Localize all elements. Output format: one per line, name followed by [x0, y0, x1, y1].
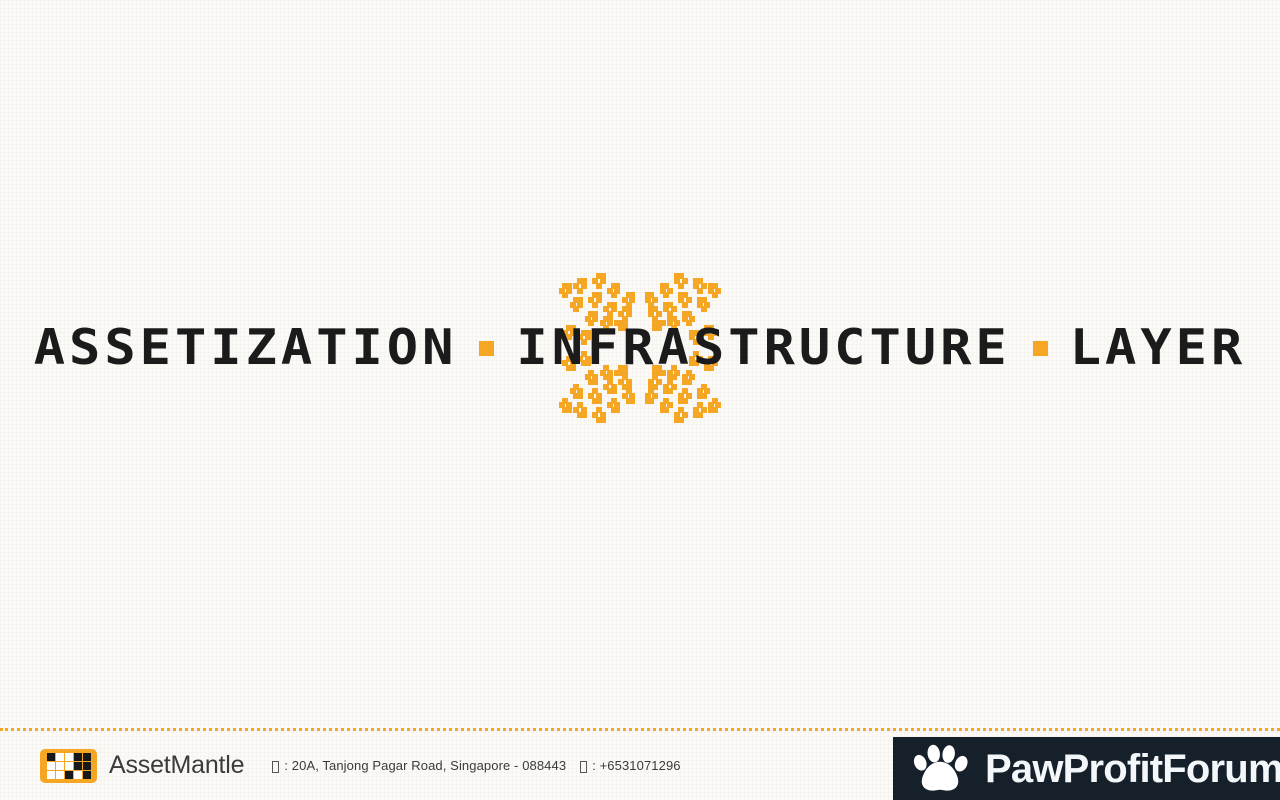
footer-contact-info: : 20A, Tanjong Pagar Road, Singapore - 0… — [272, 758, 680, 773]
burst-pixel — [674, 412, 680, 418]
logo-cell-1 — [56, 753, 64, 761]
hero-section: ASSETIZATION INFRASTRUCTURE LAYER — [0, 0, 1280, 728]
burst-pixel — [596, 273, 602, 279]
burst-pixel — [712, 292, 718, 298]
burst-pixel — [682, 412, 688, 418]
burst-pixel — [573, 407, 579, 413]
burst-pixel — [682, 278, 688, 284]
footer-address: : 20A, Tanjong Pagar Road, Singapore - 0… — [272, 758, 566, 773]
brand-name-label: AssetMantle — [109, 751, 244, 780]
burst-pixel — [626, 292, 632, 298]
burst-pixel — [592, 412, 598, 418]
burst-pixel — [648, 388, 654, 394]
burst-pixel — [626, 398, 632, 404]
burst-pixel — [618, 311, 624, 317]
burst-pixel — [656, 311, 662, 317]
burst-pixel — [663, 388, 669, 394]
burst-pixel — [674, 273, 680, 279]
burst-pixel — [592, 388, 598, 394]
burst-pixel — [596, 398, 602, 404]
burst-pixel — [629, 297, 635, 303]
burst-pixel — [701, 297, 707, 303]
burst-pixel — [622, 393, 628, 399]
burst-pixel — [678, 398, 684, 404]
burst-pixel — [678, 407, 684, 413]
burst-pixel — [618, 379, 624, 385]
burst-pixel — [667, 311, 673, 317]
burst-pixel — [708, 283, 714, 289]
logo-cell-11 — [56, 771, 64, 779]
burst-pixel — [570, 388, 576, 394]
burst-pixel — [629, 398, 635, 404]
burst-pixel — [626, 379, 632, 385]
burst-pixel — [573, 283, 579, 289]
burst-pixel — [596, 283, 602, 289]
burst-pixel — [581, 412, 587, 418]
burst-pixel — [693, 278, 699, 284]
burst-pixel — [663, 306, 669, 312]
burst-pixel — [712, 398, 718, 404]
pawprofitforum-watermark: PawProfitForum — [893, 737, 1280, 800]
burst-pixel — [708, 407, 714, 413]
burst-pixel — [600, 412, 606, 418]
burst-pixel — [648, 292, 654, 298]
burst-pixel — [600, 273, 606, 279]
burst-pixel — [614, 407, 620, 413]
burst-pixel — [559, 288, 565, 294]
burst-pixel — [701, 306, 707, 312]
burst-pixel — [674, 417, 680, 423]
burst-pixel — [614, 402, 620, 408]
burst-pixel — [607, 302, 613, 308]
burst-pixel — [562, 407, 568, 413]
burst-pixel — [573, 306, 579, 312]
burst-pixel — [697, 388, 703, 394]
burst-pixel — [611, 388, 617, 394]
burst-pixel — [671, 384, 677, 390]
burst-pixel — [682, 292, 688, 298]
burst-pixel — [577, 402, 583, 408]
burst-pixel — [577, 302, 583, 308]
burst-pixel — [559, 402, 565, 408]
burst-pixel — [566, 283, 572, 289]
burst-pixel — [678, 417, 684, 423]
burst-pixel — [611, 398, 617, 404]
burst-pixel — [708, 402, 714, 408]
burst-pixel — [577, 278, 583, 284]
burst-pixel — [588, 311, 594, 317]
burst-pixel — [622, 297, 628, 303]
burst-pixel — [607, 288, 613, 294]
burst-pixel — [614, 288, 620, 294]
burst-pixel — [592, 311, 598, 317]
burst-pixel — [592, 398, 598, 404]
burst-pixel — [577, 388, 583, 394]
location-pin-icon — [272, 761, 279, 773]
burst-pixel — [577, 297, 583, 303]
burst-pixel — [667, 288, 673, 294]
burst-pixel — [660, 288, 666, 294]
burst-pixel — [603, 384, 609, 390]
burst-pixel — [678, 283, 684, 289]
burst-pixel — [712, 283, 718, 289]
burst-pixel — [607, 388, 613, 394]
burst-pixel — [577, 288, 583, 294]
burst-pixel — [678, 273, 684, 279]
assetmantle-logo-icon[interactable] — [40, 749, 97, 783]
burst-pixel — [663, 302, 669, 308]
headline-word-layer: LAYER — [1070, 323, 1247, 372]
logo-cell-13 — [74, 771, 82, 779]
logo-cell-3 — [74, 753, 82, 761]
burst-pixel — [686, 311, 692, 317]
burst-pixel — [596, 297, 602, 303]
burst-pixel — [588, 297, 594, 303]
burst-pixel — [663, 407, 669, 413]
headline-square-bullet-1 — [479, 341, 494, 356]
burst-pixel — [678, 393, 684, 399]
burst-pixel — [697, 302, 703, 308]
logo-cell-7 — [65, 762, 73, 770]
page-stage: ASSETIZATION INFRASTRUCTURE LAYER AssetM… — [0, 0, 1280, 800]
burst-pixel — [626, 302, 632, 308]
burst-pixel — [592, 379, 598, 385]
burst-pixel — [648, 306, 654, 312]
burst-pixel — [708, 288, 714, 294]
burst-pixel — [697, 412, 703, 418]
burst-pixel — [701, 393, 707, 399]
burst-pixel — [648, 302, 654, 308]
burst-pixel — [663, 398, 669, 404]
burst-pixel — [674, 278, 680, 284]
burst-pixel — [697, 393, 703, 399]
burst-pixel — [686, 393, 692, 399]
burst-pixel — [704, 302, 710, 308]
burst-pixel — [596, 292, 602, 298]
footer-left-group: AssetMantle : 20A, Tanjong Pagar Road, S… — [40, 749, 681, 783]
burst-pixel — [596, 407, 602, 413]
burst-pixel — [648, 384, 654, 390]
phone-icon — [580, 761, 587, 773]
burst-pixel — [611, 306, 617, 312]
burst-pixel — [562, 283, 568, 289]
burst-pixel — [686, 379, 692, 385]
burst-pixel — [566, 288, 572, 294]
burst-pixel — [682, 379, 688, 385]
burst-pixel — [663, 292, 669, 298]
burst-pixel — [693, 283, 699, 289]
burst-pixel — [645, 292, 651, 298]
burst-pixel — [588, 379, 594, 385]
burst-pixel — [697, 297, 703, 303]
burst-pixel — [701, 384, 707, 390]
burst-pixel — [682, 311, 688, 317]
burst-pixel — [697, 278, 703, 284]
burst-pixel — [614, 283, 620, 289]
logo-cell-9 — [83, 762, 91, 770]
headline-word-assetization: ASSETIZATION — [34, 323, 458, 372]
logo-cell-14 — [83, 771, 91, 779]
burst-pixel — [678, 297, 684, 303]
burst-pixel — [682, 398, 688, 404]
burst-pixel — [562, 292, 568, 298]
burst-pixel — [652, 297, 658, 303]
burst-pixel — [573, 384, 579, 390]
burst-pixel — [566, 407, 572, 413]
burst-pixel — [652, 306, 658, 312]
burst-pixel — [581, 278, 587, 284]
burst-pixel — [652, 384, 658, 390]
footer-address-text: : 20A, Tanjong Pagar Road, Singapore - 0… — [284, 758, 566, 773]
burst-pixel — [577, 393, 583, 399]
burst-pixel — [652, 393, 658, 399]
burst-pixel — [693, 412, 699, 418]
burst-pixel — [629, 393, 635, 399]
burst-pixel — [622, 306, 628, 312]
burst-pixel — [663, 384, 669, 390]
burst-pixel — [592, 278, 598, 284]
burst-pixel — [660, 283, 666, 289]
footer-phone[interactable]: : +6531071296 — [580, 758, 680, 773]
burst-pixel — [611, 283, 617, 289]
burst-pixel — [663, 283, 669, 289]
burst-pixel — [678, 292, 684, 298]
burst-pixel — [607, 379, 613, 385]
headline-word-infrastructure: INFRASTRUCTURE — [516, 323, 1010, 372]
burst-pixel — [581, 407, 587, 413]
logo-cell-2 — [65, 753, 73, 761]
hero-headline: ASSETIZATION INFRASTRUCTURE LAYER — [34, 322, 1247, 374]
burst-pixel — [611, 302, 617, 308]
footer-phone-text: : +6531071296 — [592, 758, 680, 773]
burst-pixel — [607, 311, 613, 317]
burst-pixel — [566, 402, 572, 408]
burst-pixel — [645, 297, 651, 303]
burst-pixel — [682, 388, 688, 394]
burst-pixel — [577, 412, 583, 418]
burst-pixel — [622, 384, 628, 390]
watermark-label: PawProfitForum — [985, 749, 1280, 789]
burst-pixel — [697, 288, 703, 294]
burst-pixel — [667, 302, 673, 308]
burst-pixel — [611, 384, 617, 390]
headline-square-bullet-2 — [1033, 341, 1048, 356]
burst-pixel — [648, 398, 654, 404]
burst-pixel — [600, 417, 606, 423]
burst-pixel — [667, 402, 673, 408]
burst-pixel — [715, 288, 721, 294]
logo-cell-5 — [47, 762, 55, 770]
burst-pixel — [570, 302, 576, 308]
burst-pixel — [645, 398, 651, 404]
burst-pixel — [701, 283, 707, 289]
burst-pixel — [645, 393, 651, 399]
logo-pixel-grid — [47, 753, 91, 779]
burst-pixel — [671, 306, 677, 312]
brand-lockup[interactable]: AssetMantle — [40, 749, 244, 783]
burst-pixel — [715, 402, 721, 408]
burst-pixel — [592, 292, 598, 298]
burst-pixel — [701, 407, 707, 413]
logo-cell-8 — [74, 762, 82, 770]
paw-print-icon — [909, 743, 971, 795]
burst-pixel — [596, 417, 602, 423]
burst-pixel — [648, 311, 654, 317]
logo-cell-10 — [47, 771, 55, 779]
burst-pixel — [562, 398, 568, 404]
burst-pixel — [686, 297, 692, 303]
burst-pixel — [581, 283, 587, 289]
burst-pixel — [656, 379, 662, 385]
burst-pixel — [712, 407, 718, 413]
burst-pixel — [693, 407, 699, 413]
burst-pixel — [600, 278, 606, 284]
burst-pixel — [667, 379, 673, 385]
burst-pixel — [588, 393, 594, 399]
burst-pixel — [704, 388, 710, 394]
logo-cell-12 — [65, 771, 73, 779]
burst-pixel — [592, 302, 598, 308]
logo-cell-4 — [83, 753, 91, 761]
burst-pixel — [626, 311, 632, 317]
burst-pixel — [611, 407, 617, 413]
burst-pixel — [611, 292, 617, 298]
burst-pixel — [667, 388, 673, 394]
logo-cell-6 — [56, 762, 64, 770]
burst-pixel — [603, 306, 609, 312]
burst-pixel — [573, 393, 579, 399]
logo-cell-0 — [47, 753, 55, 761]
burst-pixel — [660, 402, 666, 408]
burst-pixel — [682, 302, 688, 308]
burst-pixel — [626, 384, 632, 390]
burst-pixel — [660, 407, 666, 413]
burst-pixel — [626, 388, 632, 394]
burst-pixel — [626, 306, 632, 312]
burst-pixel — [648, 379, 654, 385]
burst-pixel — [573, 297, 579, 303]
burst-pixel — [596, 393, 602, 399]
burst-pixel — [697, 402, 703, 408]
burst-pixel — [607, 402, 613, 408]
burst-pixel — [629, 292, 635, 298]
